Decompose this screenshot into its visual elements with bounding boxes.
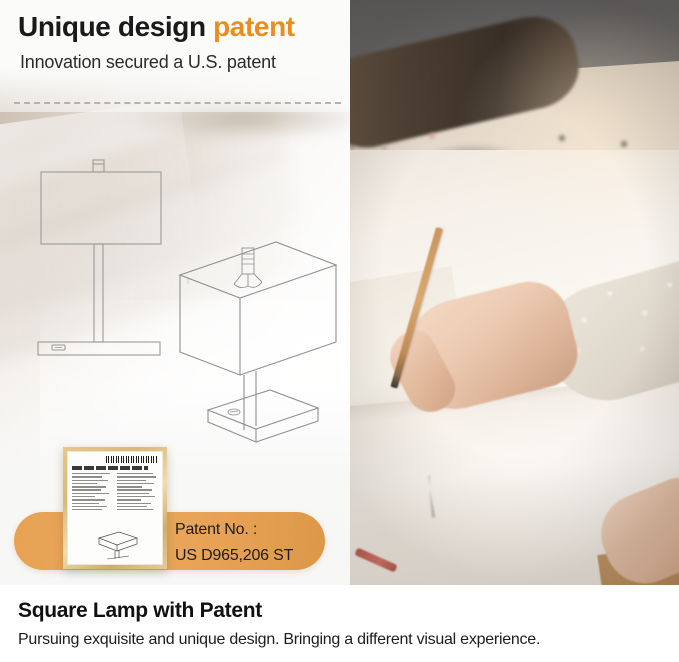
square-lamp-front-elevation-line-drawing [36,150,166,355]
patent-number-value: US D965,206 ST [175,543,335,569]
product-feature-image: Unique design patent Innovation secured … [0,0,679,662]
certificate-column-right [117,473,158,512]
product-tagline: Pursuing exquisite and unique design. Br… [18,629,540,651]
certificate-text-columns [72,473,158,512]
headline-accent: patent [206,11,295,42]
page-title: Unique design patent [18,10,348,44]
certificate-title-line [72,466,148,470]
barcode [106,456,158,463]
certificate-column-left [72,473,113,512]
product-title: Square Lamp with Patent [18,598,262,624]
certificate-document [67,451,163,565]
page-subtitle: Innovation secured a U.S. patent [20,50,348,74]
patent-number-label: Patent No. : [175,517,335,543]
square-lamp-perspective-line-drawing [178,232,338,447]
left-illustration-panel: Unique design patent Innovation secured … [0,0,350,585]
dashed-divider [14,102,341,104]
patent-number-text: Patent No. : US D965,206 ST [175,513,335,569]
framed-us-design-patent-certificate [63,447,167,569]
lifestyle-photo-hand-sketching-with-pencil [350,0,679,585]
certificate-lamp-figure [89,530,143,560]
caption-section: Square Lamp with Patent Pursuing exquisi… [0,585,679,662]
headline-lead: Unique design [18,11,206,42]
hero-section: Unique design patent Innovation secured … [0,0,679,585]
headline-block: Unique design patent Innovation secured … [18,10,348,74]
